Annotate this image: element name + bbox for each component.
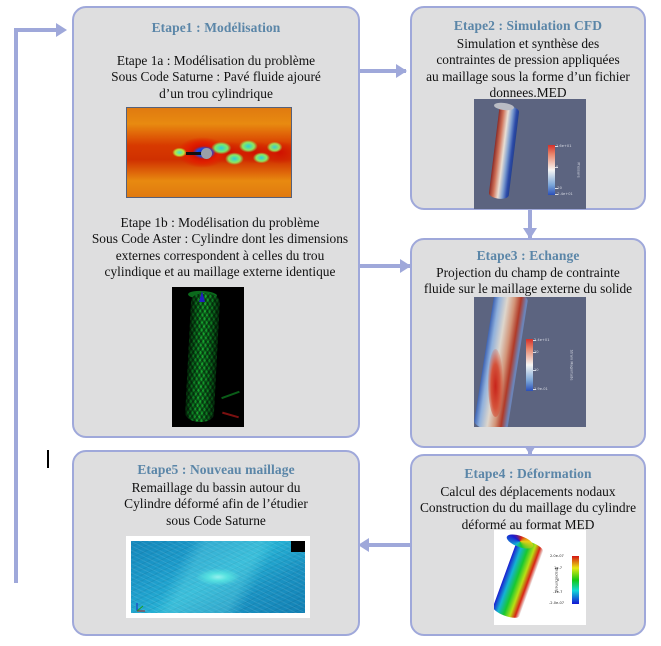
displacement-colorbar: 2.0e-07 1e-7 0 -1e-7 -2.0e-07 Displaceme… [560, 556, 586, 604]
etape1a-line3: d’un trou cylindrique [78, 86, 354, 102]
pressure-cylinder-figure: 1.6e+01 0 -20 -2.4e+01 Pressure [474, 99, 586, 209]
etape1a-description: Etape 1a : Modélisation du problème Sous… [74, 53, 358, 102]
displacement-tick-0: 2.0e-07 [550, 554, 564, 558]
etape1-title: Etape1 : Modélisation [74, 19, 358, 36]
strain-hotspot [488, 349, 503, 417]
strain-colorbar-gradient [526, 339, 533, 391]
etape2-title: Etape2 : Simulation CFD [412, 17, 644, 34]
etape3-box[interactable]: Etape3 : Echange Projection du champ de … [410, 238, 646, 448]
displacement-colorbar-gradient [572, 556, 579, 604]
etape4-title: Etape4 : Déformation [412, 465, 644, 482]
pressure-tick-1: 0 [556, 165, 558, 169]
strain-tick-0: 2.4e+01 [534, 338, 550, 342]
pressure-cylinder-body [488, 105, 519, 200]
etape3-line2: fluide sur le maillage externe du solide [416, 281, 640, 297]
etape2-line3: au maillage sous la forme d’un fichier [416, 69, 640, 85]
strain-tick-3: 1.9e-01 [534, 387, 548, 391]
etape5-title: Etape5 : Nouveau maillage [74, 461, 358, 478]
etape1-box[interactable]: Etape1 : Modélisation Etape 1a : Modélis… [72, 6, 360, 438]
etape5-line2: Cylindre déformé afin de l’étudier [78, 496, 354, 512]
etape4-line2: Construction du du maillage du cylindre [416, 500, 640, 516]
feedback-loop-top-line [14, 28, 58, 32]
etape5-to-etape1-feedback-arrow [56, 23, 67, 37]
strain-tick-1: 20 [534, 350, 539, 354]
etape3-description: Projection du champ de contrainte fluide… [412, 265, 644, 298]
pressure-colorbar-gradient [548, 145, 555, 195]
etape5-line1: Remaillage du bassin autour du [78, 480, 354, 496]
cfd-cylinder-marker [201, 148, 212, 159]
etape5-description: Remaillage du bassin autour du Cylindre … [74, 480, 358, 529]
pressure-tick-0: 1.6e+01 [556, 144, 572, 148]
etape4-description: Calcul des déplacements nodaux Construct… [412, 484, 644, 533]
remesh-corner-cut [291, 541, 305, 552]
remesh-highlight-band [131, 541, 305, 613]
etape1a-line2: Sous Code Saturne : Pavé fluide ajouré [78, 69, 354, 85]
axis-x-icon [222, 411, 239, 418]
etape5-box[interactable]: Etape5 : Nouveau maillage Remaillage du … [72, 450, 360, 636]
etape1a-line1: Etape 1a : Modélisation du problème [78, 53, 354, 69]
displacement-cylinder-body [494, 538, 544, 621]
cfd-plate-marker [186, 152, 202, 155]
displacement-colorbar-label: Displacement [554, 568, 558, 593]
etape2-description: Simulation et synthèse des contraintes d… [412, 36, 644, 102]
etape2-line2: contraintes de pression appliquées [416, 52, 640, 68]
pressure-cylinder-cap [494, 102, 515, 111]
orientation-arrow-icon [199, 291, 205, 302]
strain-colorbar-label: Strain Magnitude [569, 350, 573, 381]
displacement-cylinder-figure: 2.0e-07 1e-7 0 -1e-7 -2.0e-07 Displaceme… [494, 530, 586, 625]
remeshed-basin-figure-frame [126, 536, 310, 618]
displacement-tick-4: -2.0e-07 [549, 601, 564, 605]
feedback-loop-vertical-line-lower [14, 338, 18, 583]
etape1b-description: Etape 1b : Modélisation du problème Sous… [74, 215, 366, 281]
cylinder-mesh-body [184, 292, 219, 422]
etape5-line3: sous Code Saturne [78, 513, 354, 529]
pressure-colorbar: 1.6e+01 0 -20 -2.4e+01 Pressure [548, 145, 584, 195]
etape1a-to-etape2-arrow [396, 64, 407, 78]
etape1b-line1: Etape 1b : Modélisation du problème [78, 215, 362, 231]
pressure-tick-3: -2.4e+01 [556, 192, 573, 196]
green-mesh-cylinder-figure [172, 287, 244, 427]
flowchart-diagram: Etape1 : Modélisation Etape 1a : Modélis… [0, 0, 661, 646]
etape4-to-etape5-line [368, 543, 410, 547]
etape1b-line4: cylindique et au maillage externe identi… [78, 264, 362, 280]
axis-y-icon [221, 391, 239, 399]
strain-tick-2: 10 [534, 368, 539, 372]
etape4-box[interactable]: Etape4 : Déformation Calcul des déplacem… [410, 454, 646, 636]
etape3-line1: Projection du champ de contrainte [416, 265, 640, 281]
pressure-tick-2: -20 [556, 186, 562, 190]
etape2-box[interactable]: Etape2 : Simulation CFD Simulation et sy… [410, 6, 646, 210]
etape2-line1: Simulation et synthèse des [416, 36, 640, 52]
etape4-line1: Calcul des déplacements nodaux [416, 484, 640, 500]
etape1b-line3: externes correspondent à celles du trou [78, 248, 362, 264]
remeshed-basin-figure [131, 541, 305, 613]
cfd-vortex-field-figure [126, 107, 292, 198]
etape3-title: Etape3 : Echange [412, 247, 644, 264]
strain-colorbar: 2.4e+01 20 10 1.9e-01 Strain Magnitude [526, 339, 578, 391]
pressure-colorbar-label: Pressure [577, 162, 581, 177]
etape1b-line2: Sous Code Aster : Cylindre dont les dime… [78, 231, 362, 247]
text-cursor-artifact [47, 450, 49, 468]
strain-cylinder-figure: 2.4e+01 20 10 1.9e-01 Strain Magnitude [474, 297, 586, 427]
axes-triad-icon [136, 599, 146, 609]
feedback-loop-vertical-line [14, 28, 18, 338]
